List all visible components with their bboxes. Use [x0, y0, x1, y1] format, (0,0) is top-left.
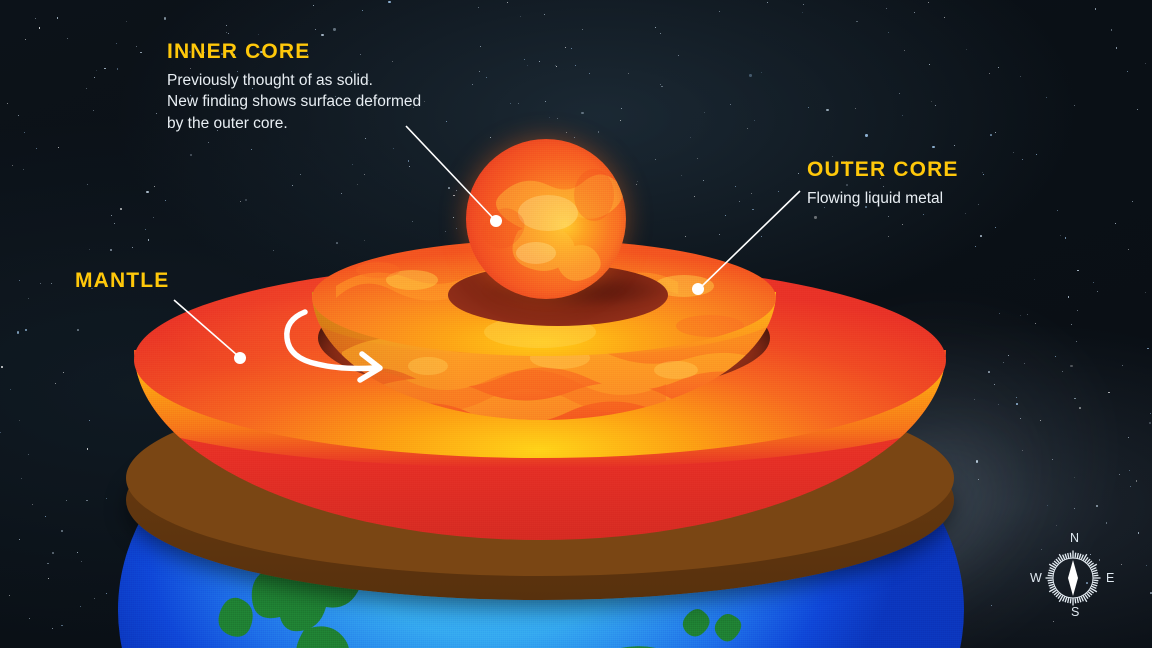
compass-label-west: W [1030, 571, 1042, 585]
label-outer-core-body: Flowing liquid metal [807, 188, 959, 209]
label-inner-core-line-2: New finding shows surface deformed [167, 91, 421, 112]
label-inner-core-line-1: Previously thought of as solid. [167, 70, 421, 91]
compass-label-north: N [1070, 531, 1079, 545]
compass-label-south: S [1071, 605, 1079, 619]
inner-core-sphere [466, 139, 626, 299]
inner-core-rim-shading [466, 139, 626, 299]
compass-label-east: E [1106, 571, 1114, 585]
label-mantle-heading: MANTLE [75, 269, 169, 292]
label-inner-core-heading: INNER CORE [167, 40, 421, 63]
label-inner-core-line-3: by the outer core. [167, 113, 421, 134]
label-outer-core: OUTER CORE Flowing liquid metal [807, 158, 959, 209]
label-inner-core-body: Previously thought of as solid. New find… [167, 70, 421, 134]
label-outer-core-heading: OUTER CORE [807, 158, 959, 181]
label-outer-core-line-1: Flowing liquid metal [807, 188, 959, 209]
compass-rose: N E S W [1030, 533, 1116, 623]
earth-interior-diagram: INNER CORE Previously thought of as soli… [0, 0, 1152, 648]
label-mantle: MANTLE [75, 269, 169, 292]
label-inner-core: INNER CORE Previously thought of as soli… [167, 40, 421, 134]
